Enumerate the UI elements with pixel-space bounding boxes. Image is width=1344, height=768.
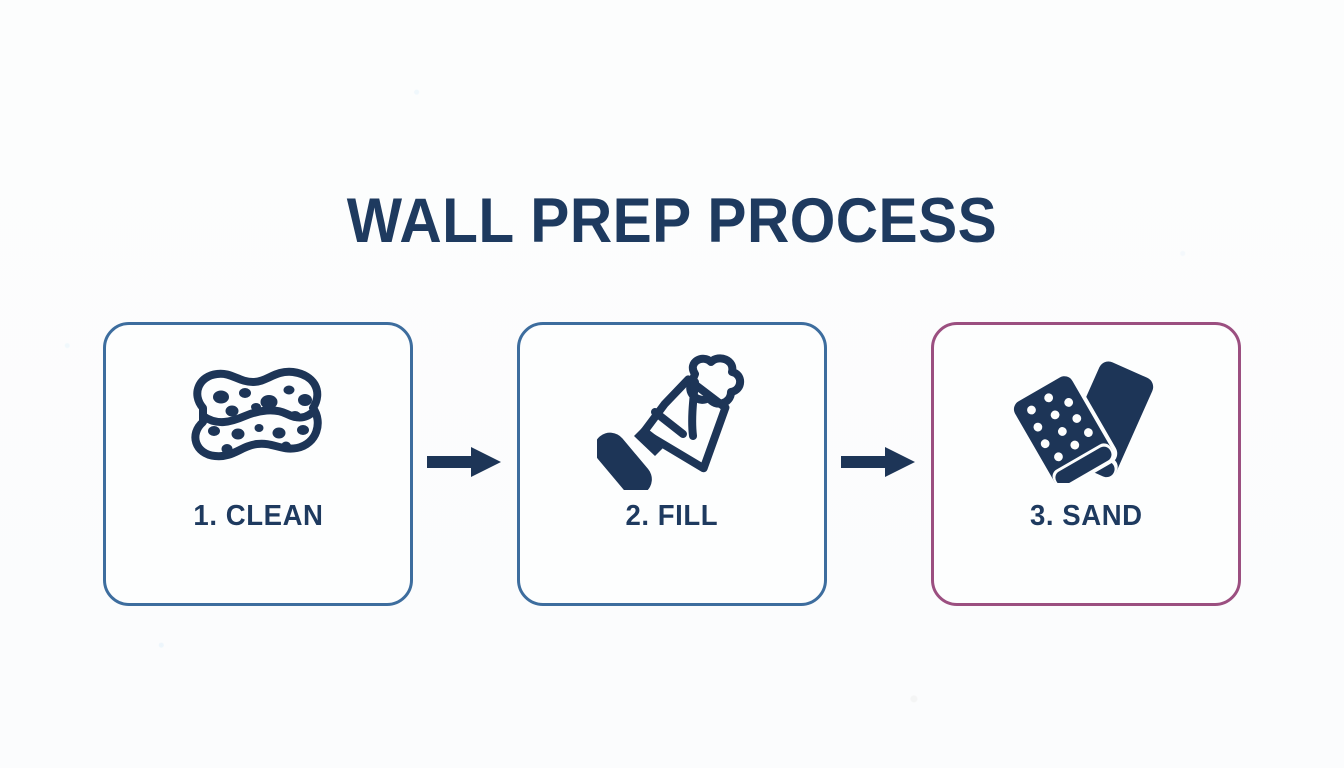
connector-1 bbox=[413, 322, 517, 606]
page-title: WALL PREP PROCESS bbox=[47, 190, 1297, 253]
step-label-fill: 2. FILL bbox=[626, 500, 719, 533]
process-step-card-clean[interactable]: 1. CLEAN bbox=[103, 322, 413, 606]
sanding-block-icon bbox=[1007, 325, 1165, 500]
arrow-right-icon bbox=[427, 445, 503, 484]
trowel-filler-icon bbox=[597, 325, 747, 500]
step-label-clean: 1. CLEAN bbox=[193, 500, 323, 533]
process-step-card-fill[interactable]: 2. FILL bbox=[517, 322, 827, 606]
arrow-right-icon bbox=[841, 445, 917, 484]
connector-2 bbox=[827, 322, 931, 606]
process-step-card-sand[interactable]: 3. SAND bbox=[931, 322, 1241, 606]
step-label-sand: 3. SAND bbox=[1030, 500, 1143, 533]
sponge-icon bbox=[183, 325, 333, 500]
process-flow: 1. CLEAN 2. FILL bbox=[103, 322, 1241, 606]
